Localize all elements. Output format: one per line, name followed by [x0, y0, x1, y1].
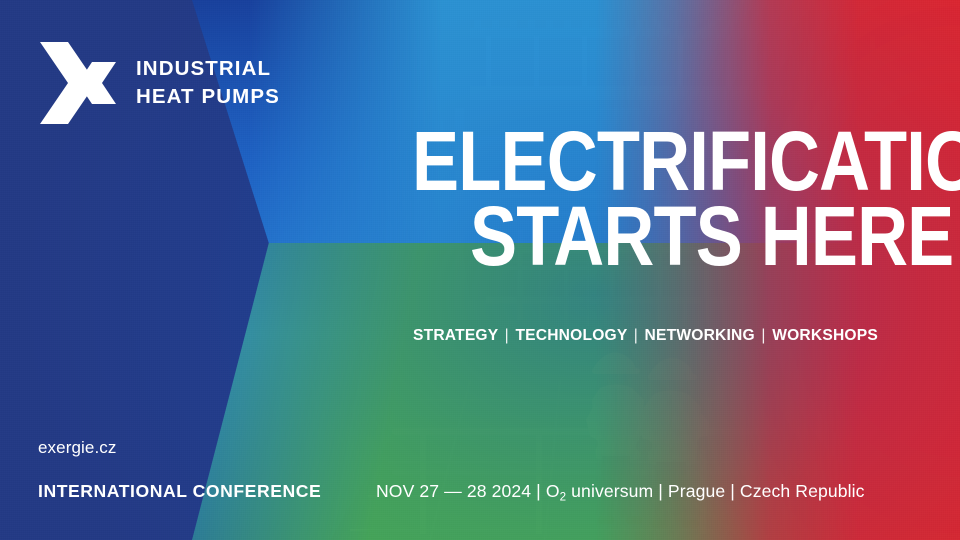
event-city: Prague [668, 481, 725, 501]
topic-separator: | [759, 327, 767, 344]
website-link[interactable]: exergie.cz [38, 438, 116, 458]
topic-networking: NETWORKING [645, 327, 755, 344]
conference-banner: CG01 [0, 0, 960, 540]
detail-separator: | [536, 481, 541, 501]
event-venue: O2 universum [546, 481, 653, 501]
headline-line-1: ELECTRIFICATION [412, 126, 840, 197]
brand-name-line1: INDUSTRIAL [136, 55, 280, 83]
venue-suffix: universum [566, 481, 653, 501]
event-dates: NOV 27 — 28 2024 [376, 481, 531, 501]
detail-separator: | [730, 481, 735, 501]
event-country: Czech Republic [740, 481, 865, 501]
headline: ELECTRIFICATION STARTS HERE [412, 126, 922, 271]
brand-name: INDUSTRIAL HEAT PUMPS [136, 55, 280, 110]
topic-separator: | [503, 327, 511, 344]
topic-technology: TECHNOLOGY [515, 327, 627, 344]
topic-separator: | [632, 327, 640, 344]
event-details: NOV 27 — 28 2024 | O2 universum | Prague… [376, 481, 865, 503]
x-chevron-logo-icon [38, 40, 118, 126]
headline-line-2: STARTS HERE [470, 201, 850, 272]
venue-prefix: O [546, 481, 560, 501]
topic-strategy: STRATEGY [413, 327, 498, 344]
brand-logo[interactable]: INDUSTRIAL HEAT PUMPS [38, 40, 280, 126]
topics-list: STRATEGY | TECHNOLOGY | NETWORKING | WOR… [413, 327, 878, 345]
brand-name-line2: HEAT PUMPS [136, 83, 280, 111]
detail-separator: | [658, 481, 663, 501]
topic-workshops: WORKSHOPS [772, 327, 878, 344]
event-type-label: INTERNATIONAL CONFERENCE [38, 481, 321, 502]
